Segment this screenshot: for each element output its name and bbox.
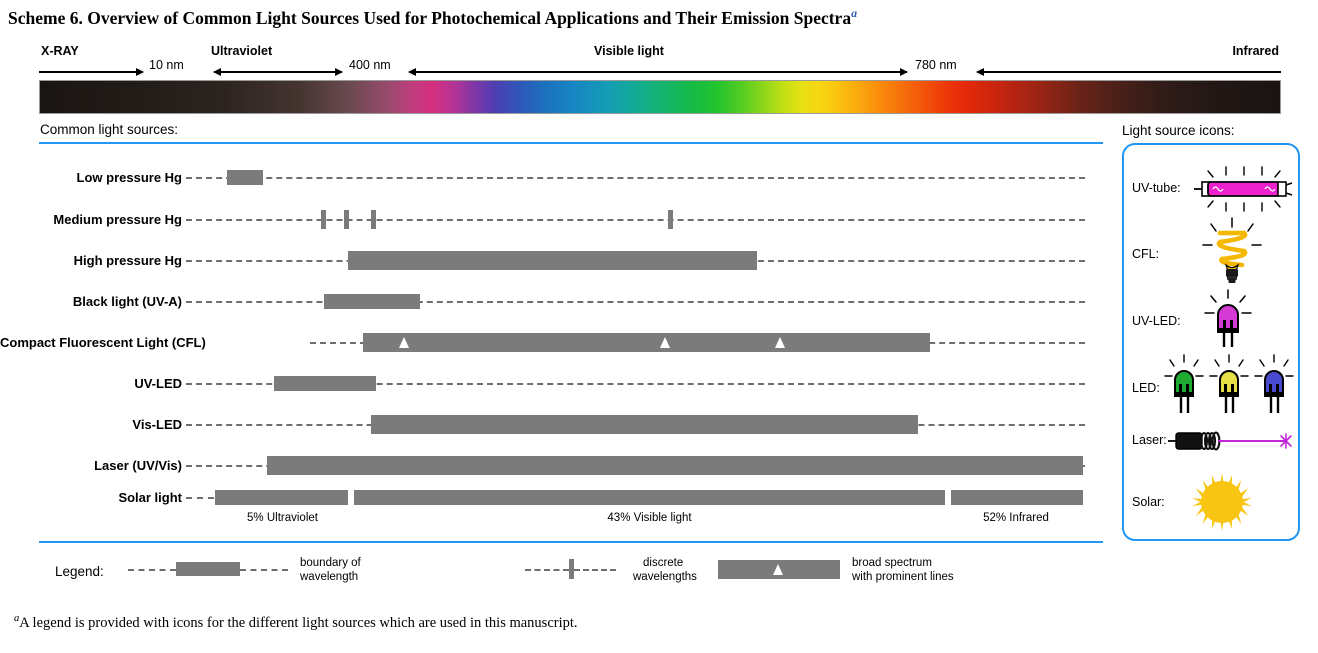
source-label: Solar light [0, 490, 182, 505]
legend-dash-left [525, 569, 569, 571]
source-label: Black light (UV-A) [0, 294, 182, 309]
source-row-cfl[interactable]: Compact Fluorescent Light (CFL) [0, 333, 1110, 353]
emission-band [227, 170, 263, 185]
source-label: Vis-LED [0, 417, 182, 432]
legend: Legend: boundary of wavelength discrete … [0, 556, 1110, 592]
icon-label: UV-LED: [1132, 314, 1181, 328]
icon-label: UV-tube: [1132, 181, 1181, 195]
prominent-line-marker [399, 337, 409, 348]
icon-label: CFL: [1132, 247, 1159, 261]
icon-row-uv-tube[interactable]: UV-tube: [1124, 161, 1302, 217]
source-row-solar-light[interactable]: Solar light [0, 488, 1110, 508]
icon-panel: UV-tube: CFL: [1122, 143, 1300, 541]
solar-caption-visible: 43% Visible light [352, 512, 947, 524]
legend-text-line1: broad spectrum [852, 557, 932, 571]
emission-band [363, 333, 930, 352]
emission-band [348, 251, 757, 270]
emission-band [274, 376, 376, 391]
legend-item-broad: broad spectrum with prominent lines [718, 556, 1048, 592]
source-label: Laser (UV/Vis) [0, 458, 182, 473]
solar-segment-visible [352, 490, 947, 505]
emission-band [371, 415, 918, 434]
source-row-low-pressure-hg[interactable]: Low pressure Hg [0, 168, 1110, 188]
prominent-line-marker [660, 337, 670, 348]
source-row-medium-pressure-hg[interactable]: Medium pressure Hg [0, 210, 1110, 230]
legend-dash-right [574, 569, 616, 571]
source-label: Low pressure Hg [0, 170, 182, 185]
source-dash-line [186, 301, 1085, 303]
icon-row-uv-led[interactable]: UV-LED: [1124, 289, 1302, 351]
solar-caption-infrared: 52% Infrared [949, 512, 1083, 524]
laser-icon [1168, 421, 1298, 461]
source-label: UV-LED [0, 376, 182, 391]
legend-text-line1: discrete [643, 557, 683, 571]
led-trio-icon [1162, 353, 1298, 419]
emission-line [344, 210, 349, 229]
legend-text-line1: boundary of [300, 557, 361, 571]
uv-tube-icon [1186, 161, 1296, 217]
emission-band [267, 456, 1083, 475]
footnote: aA legend is provided with icons for the… [14, 613, 1304, 632]
emission-line [321, 210, 326, 229]
prominent-line-marker [775, 337, 785, 348]
icon-label: Solar: [1132, 495, 1165, 509]
icon-row-cfl[interactable]: CFL: [1124, 217, 1302, 287]
source-row-vis-led[interactable]: Vis-LED [0, 415, 1110, 435]
legend-prominent-line-marker [773, 564, 783, 575]
source-row-black-light-uva[interactable]: Black light (UV-A) [0, 292, 1110, 312]
source-dash-line [186, 497, 214, 499]
sun-icon [1182, 467, 1262, 537]
legend-dash-left [128, 569, 176, 571]
legend-bar [176, 562, 240, 576]
source-row-laser[interactable]: Laser (UV/Vis) [0, 456, 1110, 476]
legend-text-line2: wavelengths [633, 571, 697, 585]
footnote-text: A legend is provided with icons for the … [19, 615, 577, 631]
source-row-uv-led[interactable]: UV-LED [0, 374, 1110, 394]
icon-row-laser[interactable]: Laser: [1124, 421, 1302, 461]
emission-line [371, 210, 376, 229]
legend-item-boundary: boundary of wavelength [128, 556, 378, 592]
icon-label: Laser: [1132, 433, 1167, 447]
uv-led-icon [1188, 289, 1280, 351]
legend-dash-right [240, 569, 288, 571]
legend-text-line2: wavelength [300, 571, 358, 585]
source-dash-line [186, 177, 1085, 179]
legend-text-line2: with prominent lines [852, 571, 954, 585]
solar-caption-uv: 5% Ultraviolet [215, 512, 350, 524]
source-label: Compact Fluorescent Light (CFL) [0, 335, 182, 350]
source-row-high-pressure-hg[interactable]: High pressure Hg [0, 251, 1110, 271]
icon-panel-header: Light source icons: [1122, 123, 1235, 138]
source-label: High pressure Hg [0, 253, 182, 268]
emission-band [324, 294, 420, 309]
sources-divider-bottom [39, 541, 1103, 543]
cfl-bulb-icon [1184, 217, 1280, 287]
solar-segment-infrared [949, 490, 1083, 505]
source-label: Medium pressure Hg [0, 212, 182, 227]
icon-row-solar[interactable]: Solar: [1124, 467, 1302, 537]
emission-line [668, 210, 673, 229]
solar-segment-uv [215, 490, 350, 505]
legend-title: Legend: [55, 564, 104, 579]
icon-row-led[interactable]: LED: [1124, 353, 1302, 419]
icon-label: LED: [1132, 381, 1160, 395]
